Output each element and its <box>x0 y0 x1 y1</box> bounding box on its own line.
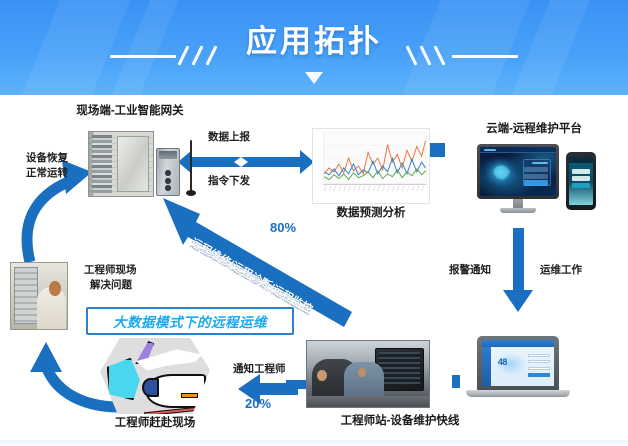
industrial-gateway-device-image <box>156 148 180 196</box>
antenna-base-icon <box>186 190 196 196</box>
laptop-hero-number: 48 <box>498 357 507 367</box>
notify-engineer-label: 通知工程师 <box>233 363 286 376</box>
engineer-onsite-label-line2: 解决问题 <box>90 279 132 292</box>
engineer-travel-caption: 工程师赶赴现场 <box>95 416 215 430</box>
antenna-icon <box>190 140 192 192</box>
chevron-down-icon <box>305 72 323 84</box>
arrow-data-bidirectional <box>178 150 314 174</box>
header-banner: 应用拓扑 <box>0 0 628 95</box>
highlight-text: 大数据模式下的远程运维 <box>113 311 267 331</box>
cloud-platform-phone-image <box>566 152 596 210</box>
arrow-engineer-connector <box>286 380 308 389</box>
engineer-onsite-label-line1: 工程师现场 <box>84 264 137 277</box>
application-topology-diagram: 应用拓扑 <box>0 0 628 446</box>
remote-chain-label: 远程维修/远程诊断/远程监控 <box>188 234 316 317</box>
onsite-percentage-label: 20% <box>245 396 271 411</box>
highlight-box: 大数据模式下的远程运维 <box>86 307 294 335</box>
engineer-station-photo <box>306 340 430 408</box>
field-gateway-title: 现场端-工业智能网关 <box>30 104 230 118</box>
laptop-base <box>466 390 570 397</box>
arrow-cloud-to-workstation <box>503 228 533 312</box>
command-down-label: 指令下发 <box>208 175 250 188</box>
analytics-caption: 数据预测分析 <box>312 206 430 220</box>
data-upload-label: 数据上报 <box>208 131 250 144</box>
ops-laptop-image: 48 <box>477 336 559 391</box>
alarm-notice-label: 报警通知 <box>449 264 491 277</box>
monitor-base <box>500 208 536 213</box>
remote-percentage-label: 80% <box>270 220 296 235</box>
engineer-travel-illustration <box>100 338 210 414</box>
cloud-platform-monitor-image <box>477 144 559 199</box>
cloud-platform-title: 云端-远程维护平台 <box>440 122 628 136</box>
arrow-workstation-to-engineer <box>452 375 460 388</box>
device-recovery-label-line1: 设备恢复 <box>26 152 68 165</box>
engineer-station-caption: 工程师站-设备维护快线 <box>300 414 500 428</box>
device-recovery-label-line2: 正常运转 <box>26 167 68 180</box>
page-title: 应用拓扑 <box>0 16 628 61</box>
data-prediction-chart-image: 1 <box>312 128 430 204</box>
ops-work-label: 运维工作 <box>540 264 582 277</box>
industrial-cabinet-image <box>88 131 154 197</box>
engineer-onsite-photo <box>10 262 68 330</box>
bottom-strip <box>0 440 628 446</box>
